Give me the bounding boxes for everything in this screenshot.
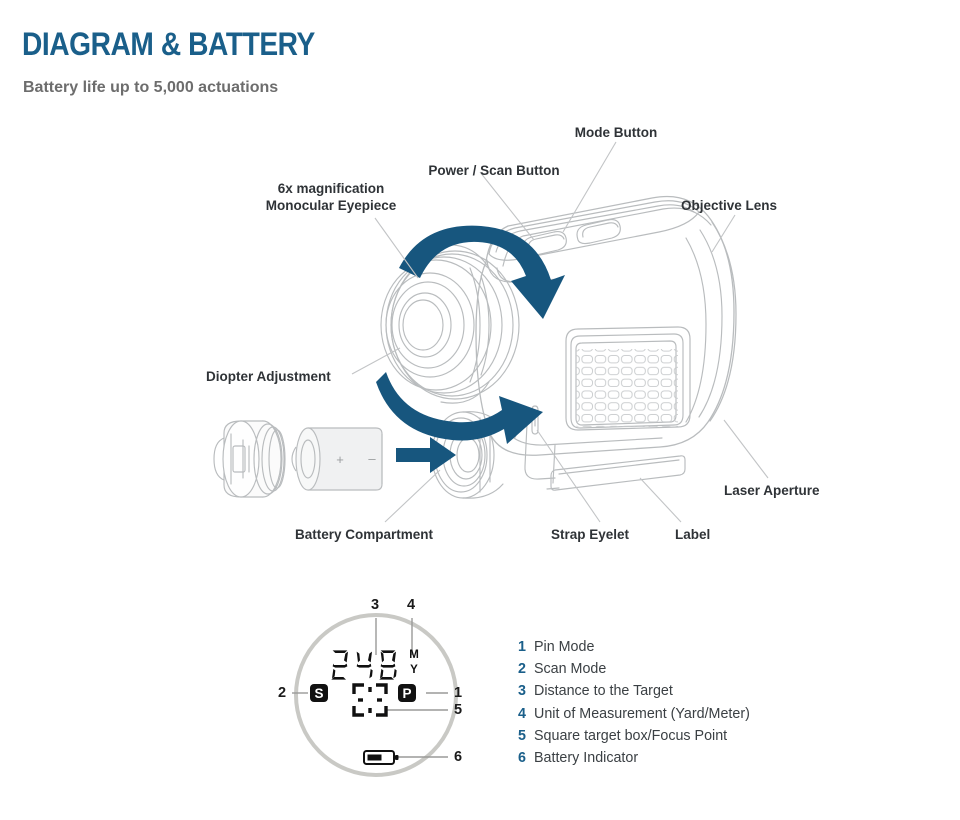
display-marker-5: 5: [454, 702, 462, 718]
callout-mode-button: Mode Button: [560, 124, 672, 141]
callout-eyepiece-line1: 6x magnification: [243, 180, 419, 197]
pin-mode-badge: P: [398, 684, 416, 702]
battery-indicator-icon: [364, 751, 399, 764]
grip-texture: [576, 349, 678, 431]
callout-laser-aperture: Laser Aperture: [724, 482, 820, 499]
battery-negative-mark: –: [368, 451, 376, 466]
legend-item: 4 Unit of Measurement (Yard/Meter): [518, 706, 818, 728]
callout-battery-compartment: Battery Compartment: [295, 526, 433, 543]
legend-number: 6: [518, 750, 534, 766]
battery-positive-mark: +: [336, 452, 344, 467]
insert-arrow: [396, 437, 456, 473]
display-marker-2: 2: [278, 685, 286, 701]
callout-label: Label: [675, 526, 710, 543]
legend-label: Distance to the Target: [534, 683, 673, 699]
callout-objective-lens: Objective Lens: [668, 197, 790, 214]
rotation-arrow-bottom: [376, 372, 543, 444]
legend-label: Unit of Measurement (Yard/Meter): [534, 706, 750, 722]
callout-eyepiece-line2: Monocular Eyepiece: [243, 197, 419, 214]
battery-cap: [214, 421, 285, 497]
legend-item: 6 Battery Indicator: [518, 750, 818, 772]
legend-item: 3 Distance to the Target: [518, 683, 818, 705]
unit-top: M: [406, 650, 422, 662]
page-subtitle: Battery life up to 5,000 actuations: [23, 79, 278, 97]
legend-label: Pin Mode: [534, 639, 594, 655]
unit-bottom: Y: [406, 665, 422, 677]
legend: 1 Pin Mode 2 Scan Mode 3 Distance to the…: [518, 639, 818, 772]
display-ring: [296, 615, 456, 775]
callout-power-scan-button: Power / Scan Button: [408, 162, 580, 179]
display-marker-1: 1: [454, 685, 462, 701]
legend-item: 2 Scan Mode: [518, 661, 818, 683]
display-marker-3: 3: [371, 597, 379, 613]
distance-readout: [330, 648, 406, 682]
legend-number: 3: [518, 683, 534, 699]
rotation-arrow-top: [399, 226, 565, 319]
callout-strap-eyelet: Strap Eyelet: [551, 526, 629, 543]
target-box-icon: [354, 685, 386, 715]
legend-label: Battery Indicator: [534, 750, 638, 766]
legend-label: Scan Mode: [534, 661, 606, 677]
scan-mode-badge: S: [310, 684, 328, 702]
legend-label: Square target box/Focus Point: [534, 728, 727, 744]
battery-cell: [292, 428, 382, 490]
page-title: DIAGRAM & BATTERY: [22, 26, 315, 63]
display-marker-4: 4: [407, 597, 415, 613]
legend-number: 5: [518, 728, 534, 744]
display-leader-lines: [292, 618, 448, 757]
svg-text:S: S: [314, 686, 323, 701]
legend-item: 5 Square target box/Focus Point: [518, 728, 818, 750]
legend-number: 4: [518, 706, 534, 722]
legend-item: 1 Pin Mode: [518, 639, 818, 661]
callout-diopter-adjustment: Diopter Adjustment: [206, 368, 331, 385]
display-marker-6: 6: [454, 749, 462, 765]
legend-number: 1: [518, 639, 534, 655]
legend-number: 2: [518, 661, 534, 677]
svg-text:P: P: [402, 686, 411, 701]
